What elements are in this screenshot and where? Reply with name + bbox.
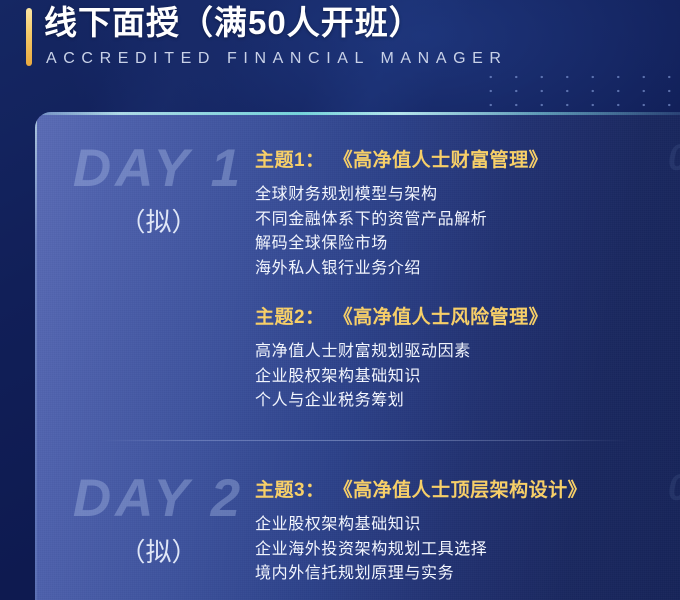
day-section-divider bbox=[100, 440, 630, 441]
topic-line: 解码全球保险市场 bbox=[255, 232, 680, 257]
topic-title-3: 主题3：《高净值人士顶层架构设计》 bbox=[255, 478, 680, 504]
topic-block-2: 主题2：《高净值人士风险管理》 高净值人士财富规划驱动因素 企业股权架构基础知识… bbox=[255, 305, 680, 414]
course-schedule-poster: 线下面授（满50人开班） ACCREDITED FINANCIAL MANAGE… bbox=[0, 0, 680, 600]
topic-title-2: 主题2：《高净值人士风险管理》 bbox=[255, 305, 680, 331]
page-subtitle: ACCREDITED FINANCIAL MANAGER bbox=[46, 50, 508, 68]
topic-line: 企业股权架构基础知识 bbox=[255, 513, 680, 538]
topic-name: 《高净值人士财富管理》 bbox=[334, 150, 549, 171]
page-title: 线下面授（满50人开班） bbox=[44, 2, 423, 44]
topic-line-list-1: 全球财务规划模型与架构 不同金融体系下的资管产品解析 解码全球保险市场 海外私人… bbox=[255, 183, 680, 281]
day-note: （拟） bbox=[51, 206, 266, 238]
topic-line: 境内外信托规划原理与实务 bbox=[255, 562, 680, 587]
day-note: （拟） bbox=[51, 536, 266, 568]
day-title: DAY 1 bbox=[51, 140, 266, 198]
topic-line: 企业海外投资架构规划工具选择 bbox=[255, 538, 680, 563]
day-block-2: 02 DAY 2 （拟） 主题3：《高净值人士顶层架构设计》 企业股权架构基础知… bbox=[35, 442, 680, 600]
topic-title-1: 主题1：《高净值人士财富管理》 bbox=[255, 148, 680, 174]
topic-block-1: 主题1：《高净值人士财富管理》 全球财务规划模型与架构 不同金融体系下的资管产品… bbox=[255, 148, 680, 281]
topic-line: 全球财务规划模型与架构 bbox=[255, 183, 680, 208]
day-title: DAY 2 bbox=[51, 470, 266, 528]
gold-accent-bar bbox=[26, 8, 32, 66]
topic-name: 《高净值人士风险管理》 bbox=[334, 307, 549, 328]
poster-header: 线下面授（满50人开班） ACCREDITED FINANCIAL MANAGE… bbox=[0, 0, 680, 100]
day-label-group-1: DAY 1 （拟） bbox=[51, 140, 266, 238]
topic-number-label: 主题1： bbox=[255, 150, 325, 171]
topic-number-label: 主题2： bbox=[255, 307, 325, 328]
topic-line: 个人与企业税务筹划 bbox=[255, 389, 680, 414]
topic-name: 《高净值人士顶层架构设计》 bbox=[334, 480, 588, 501]
day-block-1: 01 DAY 1 （拟） 主题1：《高净值人士财富管理》 全球财务规划模型与架构… bbox=[35, 112, 680, 440]
topic-block-3: 主题3：《高净值人士顶层架构设计》 企业股权架构基础知识 企业海外投资架构规划工… bbox=[255, 478, 680, 587]
topic-line-list-2: 高净值人士财富规划驱动因素 企业股权架构基础知识 个人与企业税务筹划 bbox=[255, 340, 680, 414]
day-label-group-2: DAY 2 （拟） bbox=[51, 470, 266, 568]
schedule-card: 01 DAY 1 （拟） 主题1：《高净值人士财富管理》 全球财务规划模型与架构… bbox=[35, 112, 680, 600]
topic-number-label: 主题3： bbox=[255, 480, 325, 501]
topic-line: 高净值人士财富规划驱动因素 bbox=[255, 340, 680, 365]
topic-line: 海外私人银行业务介绍 bbox=[255, 257, 680, 282]
topic-line: 不同金融体系下的资管产品解析 bbox=[255, 208, 680, 233]
topic-line-list-3: 企业股权架构基础知识 企业海外投资架构规划工具选择 境内外信托规划原理与实务 bbox=[255, 513, 680, 587]
topic-line: 企业股权架构基础知识 bbox=[255, 365, 680, 390]
